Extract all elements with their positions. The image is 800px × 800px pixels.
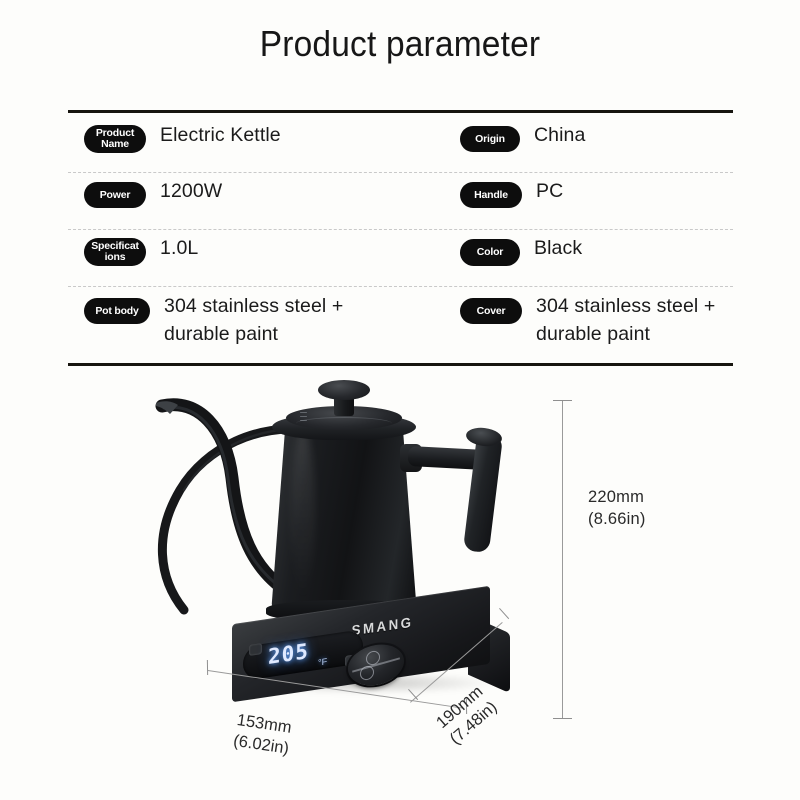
height-dimension-mm: 220mm	[588, 486, 646, 508]
kettle-lid-seam	[296, 417, 392, 430]
width-dimension-cap-left	[207, 660, 209, 675]
spec-cell-specifications: Specificat ions 1.0L	[68, 229, 460, 266]
spec-label-color: Color	[460, 239, 520, 266]
spec-label-power: Power	[84, 182, 146, 208]
height-dimension-inch: (8.66in)	[588, 508, 646, 530]
led-temperature-unit: °F	[318, 656, 327, 667]
spec-cell-pot-body: Pot body 304 stainless steel + durable p…	[68, 286, 460, 348]
table-bottom-rule	[68, 363, 733, 366]
table-row: Pot body 304 stainless steel + durable p…	[68, 286, 733, 363]
depth-dimension-cap-far	[499, 608, 509, 619]
spec-label-product-name: Product Name	[84, 125, 146, 153]
table-top-rule	[68, 110, 733, 113]
spec-value-pot-body: 304 stainless steel + durable paint	[164, 286, 343, 348]
table-row: Power 1200W Handle PC	[68, 172, 733, 229]
height-dimension-cap-bottom	[553, 718, 572, 719]
table-row: Specificat ions 1.0L Color Black	[68, 229, 733, 286]
page-title: Product parameter	[28, 22, 772, 66]
spec-cell-cover: Cover 304 stainless steel + durable pain…	[460, 286, 733, 348]
spec-value-origin: China	[534, 116, 585, 149]
height-dimension-line	[562, 400, 563, 718]
spec-cell-color: Color Black	[460, 229, 733, 266]
spec-table: Product Name Electric Kettle Origin Chin…	[68, 116, 733, 363]
spec-label-origin: Origin	[460, 126, 520, 152]
spec-value-product-name: Electric Kettle	[160, 116, 281, 149]
spec-label-specifications: Specificat ions	[84, 238, 146, 266]
lid-knob-cap	[318, 380, 370, 400]
spec-value-handle: PC	[536, 172, 563, 205]
spec-value-specifications: 1.0L	[160, 229, 198, 262]
spec-cell-product-name: Product Name Electric Kettle	[68, 116, 460, 153]
product-photo: SMANG 205 °F 220mm (8.66in) 153mm (6.02i…	[0, 372, 800, 800]
table-row: Product Name Electric Kettle Origin Chin…	[68, 116, 733, 172]
touch-button-left-icon[interactable]	[249, 643, 262, 656]
spec-label-handle: Handle	[460, 182, 522, 208]
height-dimension-cap-top	[553, 400, 572, 401]
width-dimension-label: 153mm (6.02in)	[232, 710, 293, 760]
spec-value-color: Black	[534, 229, 582, 262]
spec-label-pot-body: Pot body	[84, 298, 150, 324]
height-dimension-label: 220mm (8.66in)	[588, 486, 646, 530]
kettle-body	[271, 422, 417, 614]
product-parameter-infographic: Product parameter Product Name Electric …	[0, 0, 800, 800]
spec-label-cover: Cover	[460, 298, 522, 324]
spec-value-cover: 304 stainless steel + durable paint	[536, 286, 715, 348]
spec-cell-power: Power 1200W	[68, 172, 460, 208]
spec-cell-origin: Origin China	[460, 116, 733, 152]
spec-value-power: 1200W	[160, 172, 222, 205]
spec-cell-handle: Handle PC	[460, 172, 733, 208]
